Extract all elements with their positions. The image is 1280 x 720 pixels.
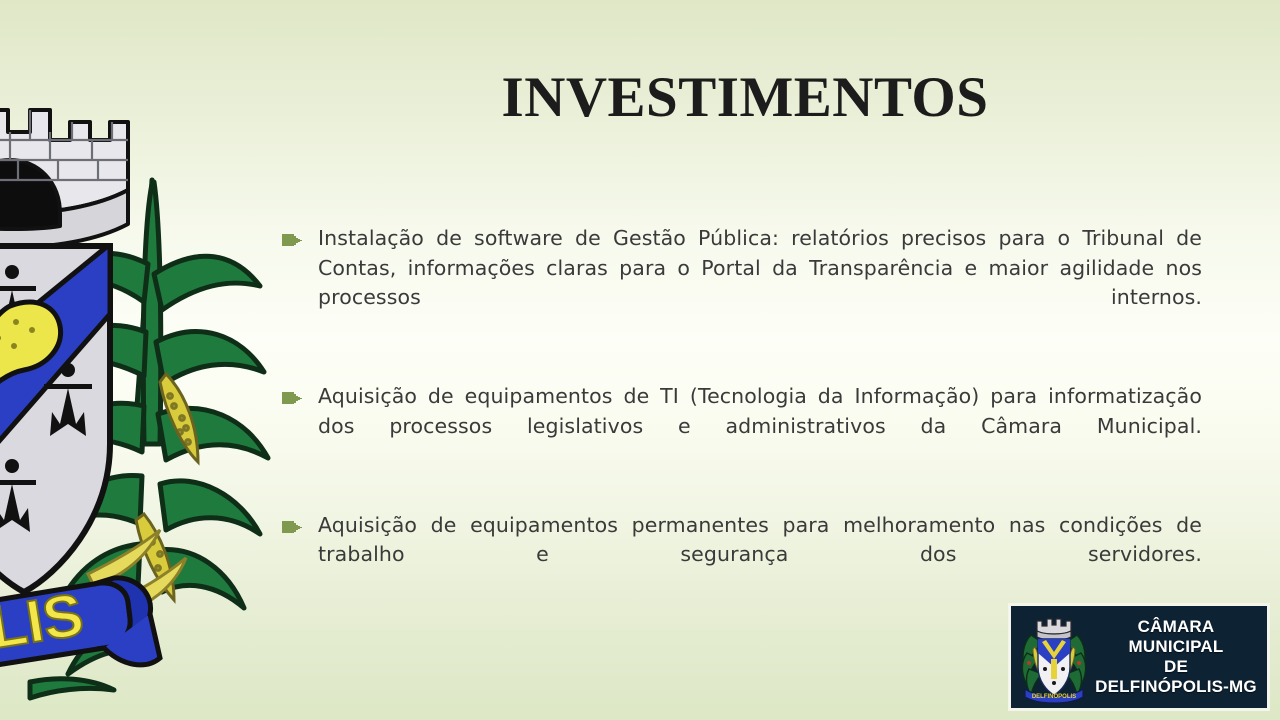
corn-cobs — [136, 374, 198, 600]
logo-plate-text: CÂMARA MUNICIPAL DE DELFINÓPOLIS-MG — [1091, 617, 1267, 697]
crest-ribbon-text: DELFINÓPOLIS — [1032, 692, 1076, 700]
green-arrow-bullet-icon — [282, 520, 302, 534]
list-item: Aquisição de equipamentos permanentes pa… — [282, 511, 1202, 600]
page-title: INVESTIMENTOS — [250, 68, 1240, 128]
ribbon: POLIS — [0, 578, 160, 690]
heraldic-shield — [0, 244, 110, 592]
logo-line-2: DE — [1091, 657, 1261, 677]
wheat-spray — [88, 530, 186, 614]
comet-charge — [0, 302, 61, 425]
delfinopolis-crest-small-icon: DELFINÓPOLIS — [1017, 609, 1091, 705]
logo-line-1: CÂMARA MUNICIPAL — [1091, 617, 1261, 657]
ribbon-text: POLIS — [0, 581, 88, 675]
list-item: Aquisição de equipamentos de TI (Tecnolo… — [282, 382, 1202, 471]
logo-line-3: DELFINÓPOLIS-MG — [1091, 677, 1261, 697]
presentation-slide: POLIS INVESTIMENTOS Instalação de softwa… — [0, 0, 1280, 720]
list-item-text: Instalação de software de Gestão Pública… — [318, 224, 1202, 342]
list-item: Instalação de software de Gestão Pública… — [282, 224, 1202, 342]
list-item-text: Aquisição de equipamentos permanentes pa… — [318, 511, 1202, 600]
green-arrow-bullet-icon — [282, 233, 302, 247]
mural-crown — [0, 110, 128, 248]
ermine-spots — [0, 265, 92, 532]
bullet-list: Instalação de software de Gestão Pública… — [282, 224, 1202, 599]
corn-foliage — [30, 180, 268, 698]
list-item-text: Aquisição de equipamentos de TI (Tecnolo… — [318, 382, 1202, 471]
camara-municipal-logo-plate: DELFINÓPOLIS CÂMARA MUNICIPAL DE DELFINÓ… — [1008, 603, 1270, 711]
green-arrow-bullet-icon — [282, 391, 302, 405]
